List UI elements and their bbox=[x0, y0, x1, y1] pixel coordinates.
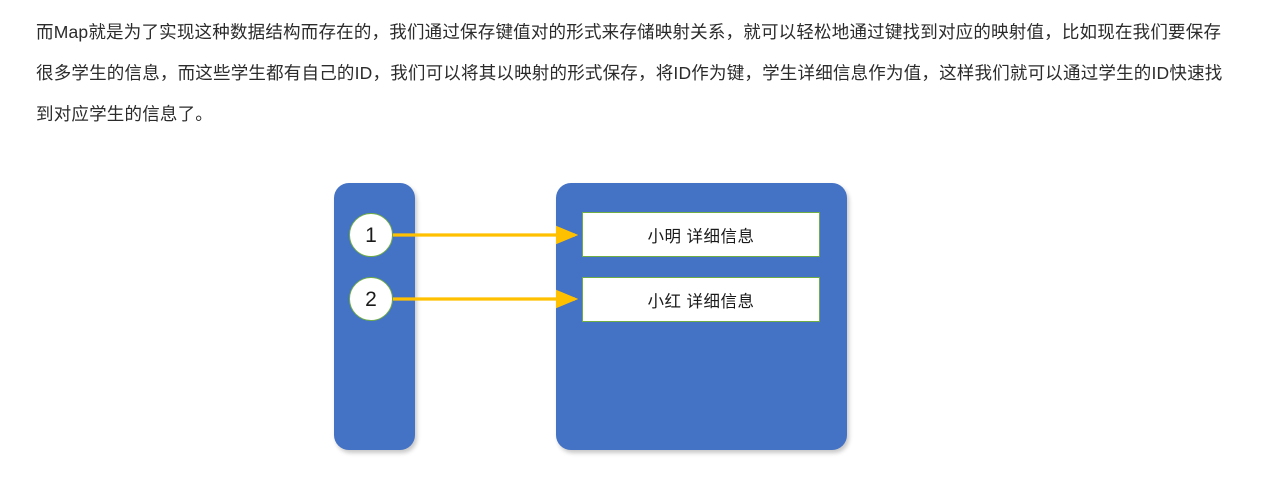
value-box-2-label: 小红 详细信息 bbox=[647, 288, 754, 312]
value-box-2: 小红 详细信息 bbox=[582, 277, 820, 322]
map-mapping-diagram: 1 2 小明 详细信息 小红 详细信息 bbox=[0, 0, 1272, 504]
value-box-1: 小明 详细信息 bbox=[582, 212, 820, 257]
key-circle-1: 1 bbox=[349, 213, 393, 257]
key-circle-2-label: 2 bbox=[365, 289, 377, 310]
key-circle-1-label: 1 bbox=[365, 225, 377, 246]
key-circle-2: 2 bbox=[349, 277, 393, 321]
value-box-1-label: 小明 详细信息 bbox=[647, 223, 754, 247]
